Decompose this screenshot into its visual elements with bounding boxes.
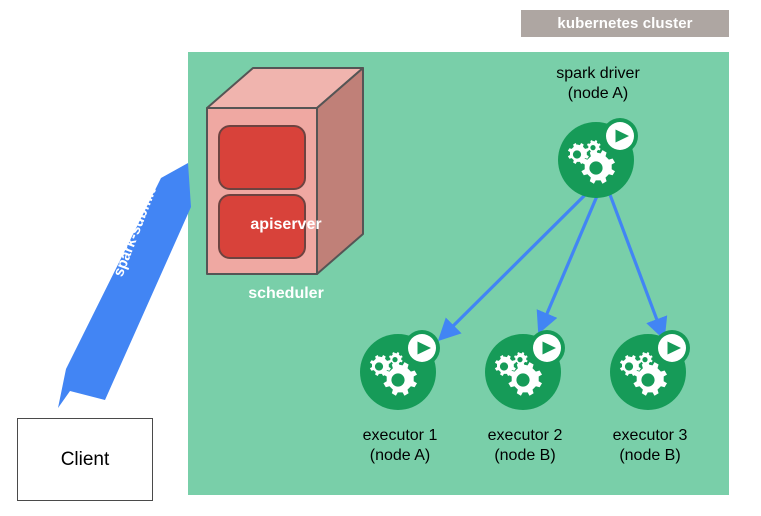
spark-driver-caption: spark driver (node A): [510, 64, 686, 104]
spark-driver-node-icon[interactable]: [558, 118, 638, 198]
executor-3-name: executor 3: [562, 426, 738, 446]
executor-3-node: (node B): [562, 446, 738, 466]
client-label: Client: [61, 449, 110, 471]
spark-driver-node: (node A): [510, 84, 686, 104]
kubernetes-cluster-badge: kubernetes cluster: [521, 10, 729, 37]
spark-driver-name: spark driver: [510, 64, 686, 84]
client-box[interactable]: Client: [17, 418, 153, 501]
kubernetes-cluster-badge-label: kubernetes cluster: [557, 15, 692, 32]
executor-3-caption: executor 3 (node B): [562, 426, 738, 466]
scheduler-component-label: scheduler: [227, 285, 345, 303]
apiserver-component-label: apiserver: [227, 216, 345, 234]
executor-1-node-icon[interactable]: [360, 330, 440, 410]
diagram-canvas: kubernetes cluster apiserver scheduler s…: [0, 0, 761, 516]
spark-submit-arrow: [58, 163, 218, 408]
gears-play-icon: [360, 330, 440, 410]
gears-play-icon: [558, 118, 638, 198]
executor-2-node-icon[interactable]: [485, 330, 565, 410]
gears-play-icon: [610, 330, 690, 410]
control-plane-box: apiserver scheduler: [205, 66, 365, 276]
gears-play-icon: [485, 330, 565, 410]
executor-3-node-icon[interactable]: [610, 330, 690, 410]
